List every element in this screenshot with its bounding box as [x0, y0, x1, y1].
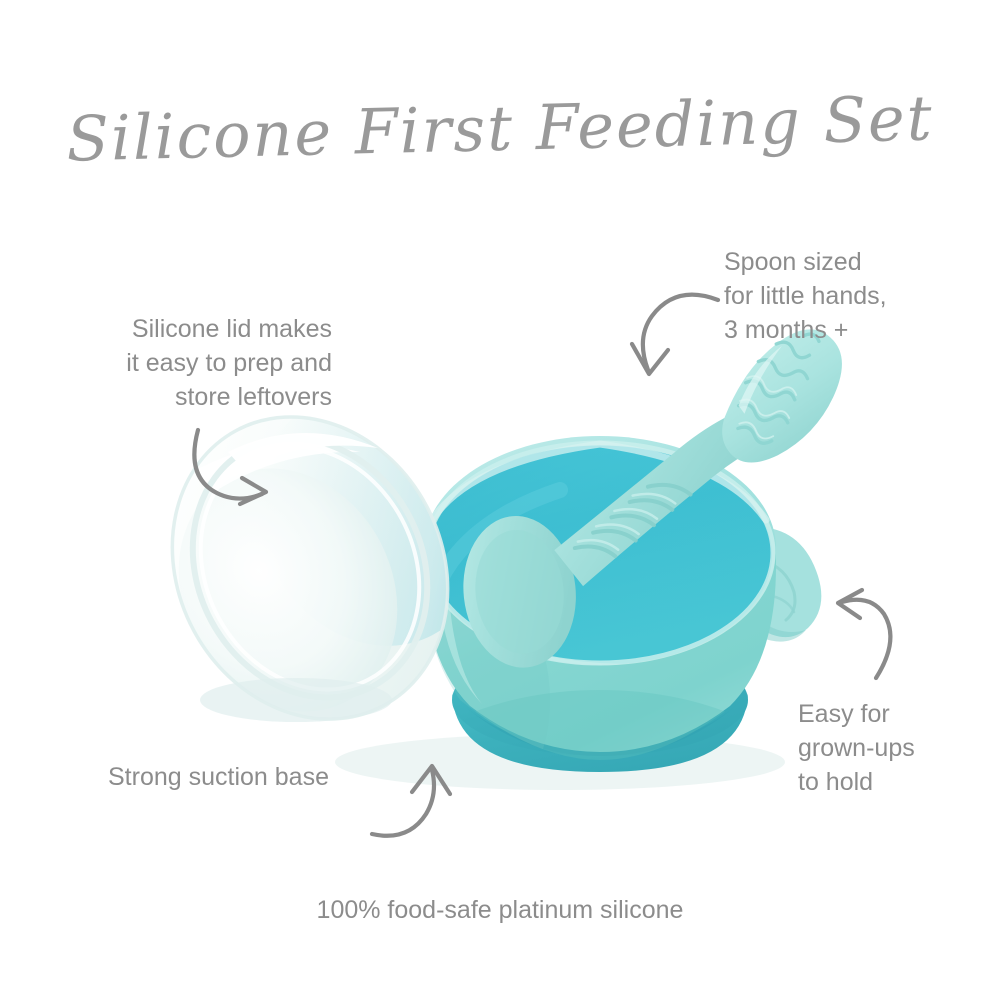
- footer-material-note: 100% food-safe platinum silicone: [0, 893, 1000, 927]
- arrow-to-lid: [180, 418, 320, 528]
- spoon-grip-ridges: [575, 464, 692, 576]
- suction-base: [452, 644, 748, 772]
- bowl-side-tab: [741, 527, 821, 642]
- arrow-to-suction-base: [368, 758, 498, 858]
- arrow-to-handle: [818, 578, 938, 688]
- bowl-rim: [424, 436, 776, 672]
- callout-easy-to-hold: Easy for grown-ups to hold: [798, 697, 968, 799]
- callout-spoon-size: Spoon sized for little hands, 3 months +: [724, 245, 954, 347]
- product-infographic: Silicone First Feeding Set Silicone lid …: [0, 0, 1000, 1000]
- callout-strong-suction: Strong suction base: [108, 760, 408, 794]
- silicone-lid: [120, 354, 530, 768]
- page-title: Silicone First Feeding Set: [0, 80, 1000, 177]
- callout-silicone-lid: Silicone lid makes it easy to prep and s…: [70, 312, 332, 414]
- arrow-to-spoon: [622, 278, 742, 388]
- spoon-scoop: [456, 510, 583, 673]
